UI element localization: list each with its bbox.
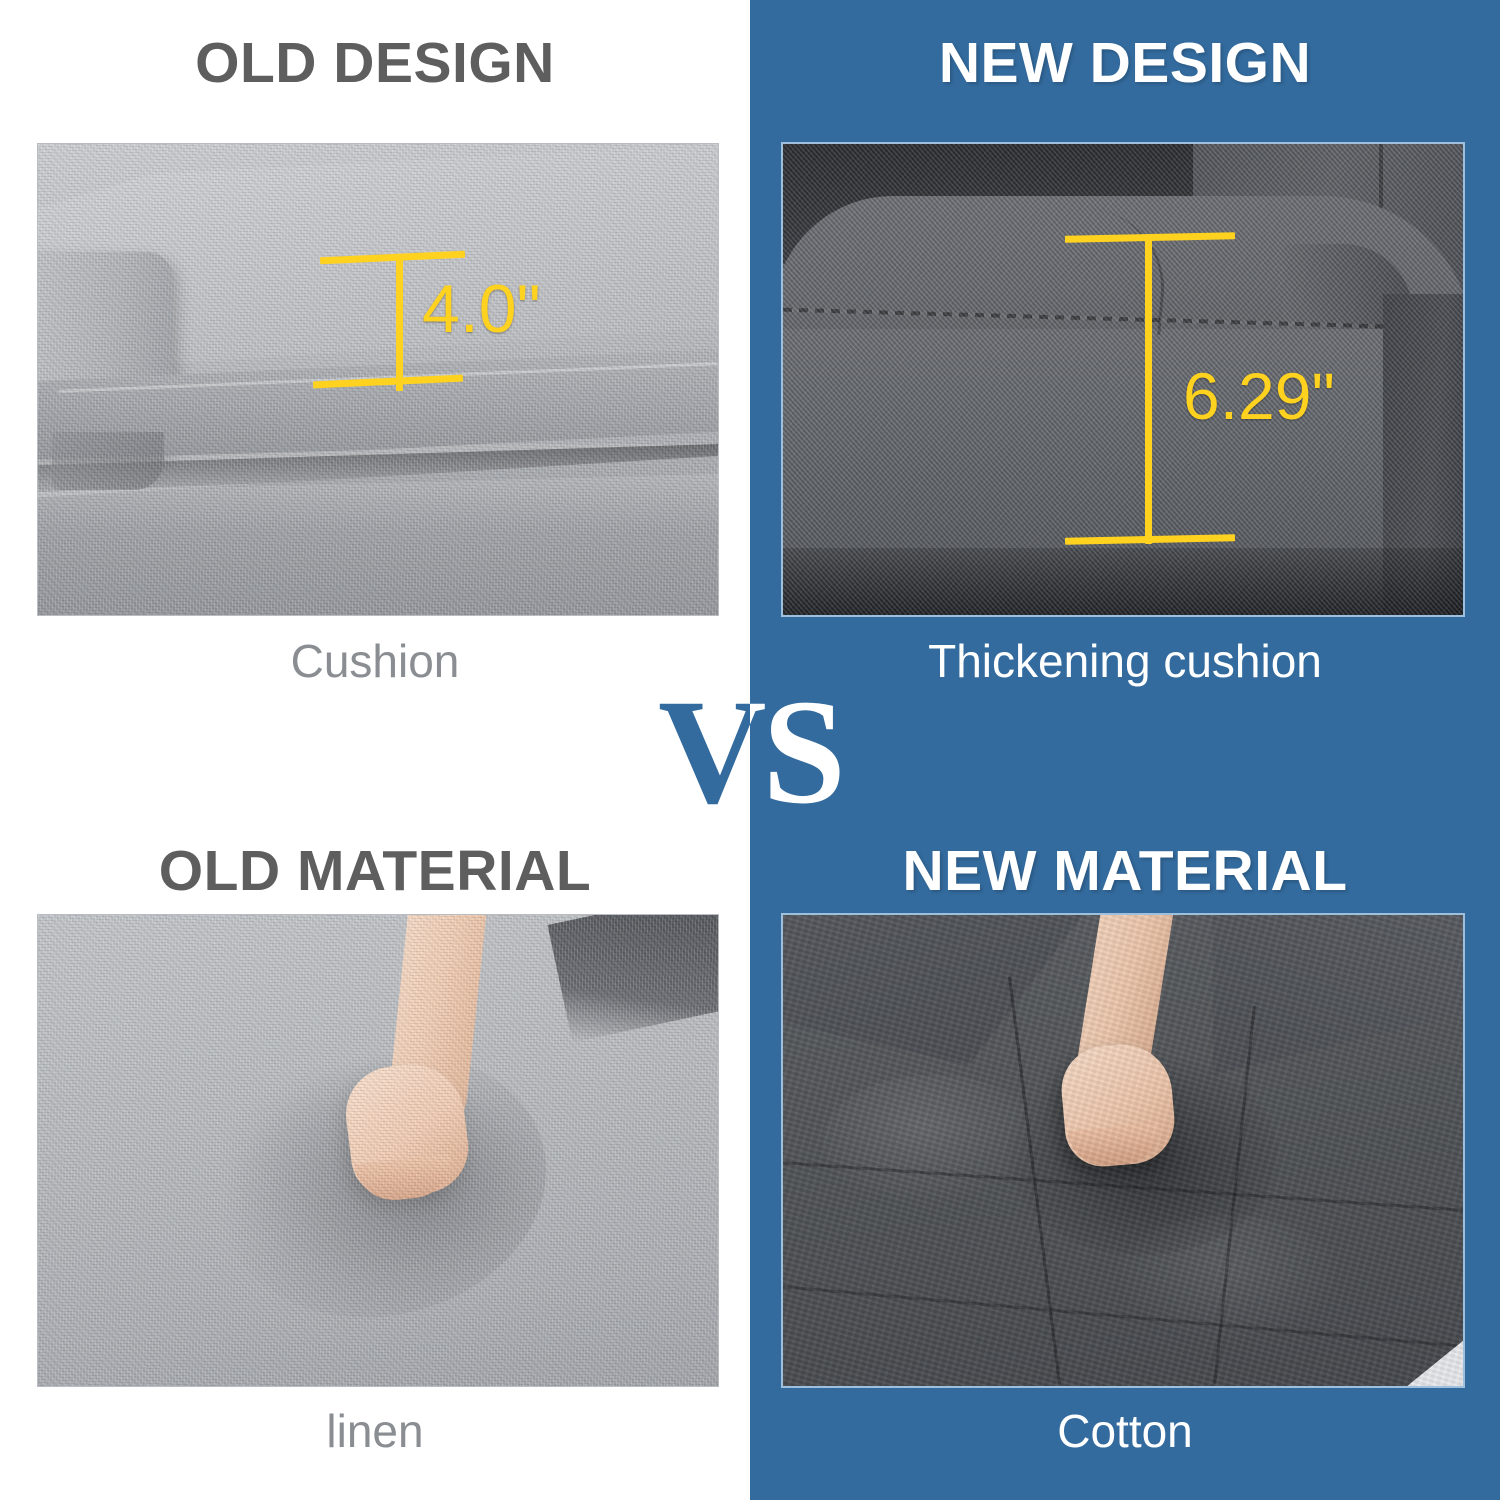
measure-bottom-cap-icon — [313, 375, 463, 389]
heading-new-material: NEW MATERIAL — [750, 838, 1500, 904]
caption-linen: linen — [0, 1404, 750, 1458]
heading-old-material: OLD MATERIAL — [0, 838, 750, 904]
measurement-marker-old: 4.0" — [38, 144, 718, 615]
measurement-marker-new: 6.29" — [783, 144, 1463, 615]
measure-top-cap-icon — [320, 251, 465, 265]
measurement-value-new: 6.29" — [1183, 358, 1335, 434]
vs-badge: VS VS — [600, 688, 900, 823]
photo-old-material-linen — [38, 915, 718, 1386]
caption-thickening-cushion: Thickening cushion — [750, 634, 1500, 688]
measurement-value-old: 4.0" — [422, 270, 541, 348]
photo-new-design-cushion: 6.29" — [783, 144, 1463, 615]
heading-new-design: NEW DESIGN — [750, 30, 1500, 96]
photo-old-design-cushion: 4.0" — [38, 144, 718, 615]
photo-new-material-cotton — [783, 915, 1463, 1386]
caption-cotton: Cotton — [750, 1404, 1500, 1458]
measure-stem-icon — [396, 256, 403, 391]
caption-cushion: Cushion — [0, 634, 750, 688]
measure-stem-icon — [1145, 236, 1152, 544]
heading-old-design: OLD DESIGN — [0, 30, 750, 96]
comparison-infographic: OLD DESIGN NEW DESIGN OLD MATERIAL NEW M… — [0, 0, 1500, 1500]
